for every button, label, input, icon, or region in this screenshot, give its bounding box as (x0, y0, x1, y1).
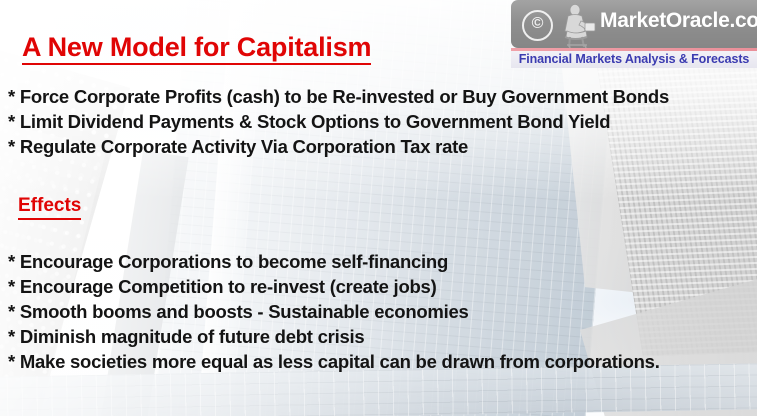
list-item: * Make societies more equal as less capi… (8, 349, 660, 374)
logo-wordmark: MarketOracle.co.uk (600, 9, 757, 33)
page-title: A New Model for Capitalism (22, 33, 371, 65)
copyright-icon: © (522, 10, 553, 41)
effects-list: * Encourage Corporations to become self-… (8, 249, 660, 374)
slide-canvas: A New Model for Capitalism * Force Corpo… (0, 0, 757, 416)
effects-heading: Effects (18, 196, 81, 220)
slide-content: A New Model for Capitalism * Force Corpo… (0, 0, 757, 416)
policy-list: * Force Corporate Profits (cash) to be R… (8, 84, 669, 159)
list-item: * Limit Dividend Payments & Stock Option… (8, 109, 669, 134)
marketoracle-logo[interactable]: © MarketOracle.co.uk Financial Markets A… (508, 0, 757, 68)
list-item: * Encourage Corporations to become self-… (8, 249, 660, 274)
list-item: * Force Corporate Profits (cash) to be R… (8, 84, 669, 109)
seated-scribe-icon (555, 3, 599, 48)
list-item: * Regulate Corporate Activity Via Corpor… (8, 134, 669, 159)
logo-tagline: Financial Markets Analysis & Forecasts (511, 51, 757, 68)
list-item: * Encourage Competition to re-invest (cr… (8, 274, 660, 299)
list-item: * Diminish magnitude of future debt cris… (8, 324, 660, 349)
list-item: * Smooth booms and boosts - Sustainable … (8, 299, 660, 324)
